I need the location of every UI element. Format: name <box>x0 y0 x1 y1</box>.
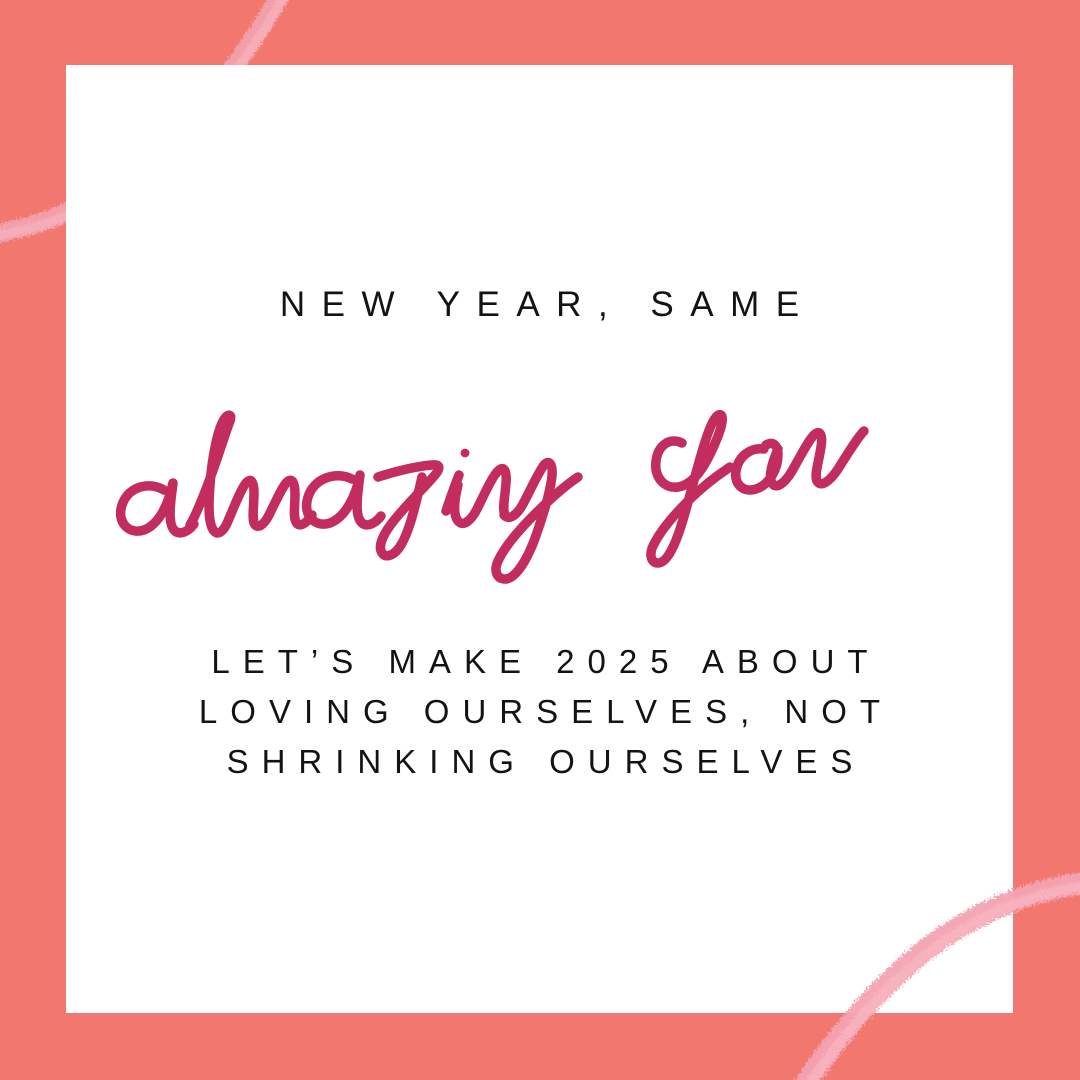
subcopy-line-3: SHRINKING OURSELVES <box>66 737 1013 787</box>
subcopy-line-1: LET’S MAKE 2025 ABOUT <box>66 637 1013 687</box>
script-headline: amazing you <box>66 365 1013 595</box>
script-headline-artwork: amazing you <box>66 365 1013 595</box>
poster-canvas: NEW YEAR, SAME amazing you <box>0 0 1080 1080</box>
eyebrow-headline: NEW YEAR, SAME <box>66 287 1013 322</box>
subcopy-block: LET’S MAKE 2025 ABOUT LOVING OURSELVES, … <box>66 637 1013 787</box>
subcopy-line-2: LOVING OURSELVES, NOT <box>66 687 1013 737</box>
